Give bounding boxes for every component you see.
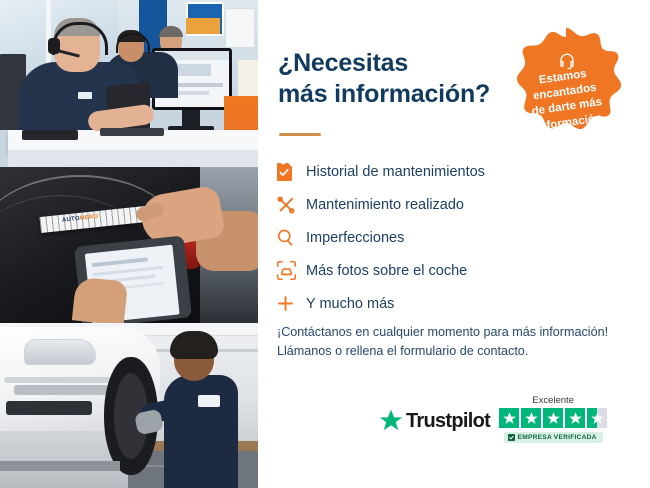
trustpilot-wordmark: Trustpilot — [406, 410, 490, 433]
contact-line-2: Llámanos o rellena el formulario de cont… — [277, 342, 639, 361]
car-grille — [14, 385, 118, 395]
car-bumper — [4, 377, 124, 383]
contact-line-1: ¡Contáctanos en cualquier momento para m… — [277, 323, 639, 342]
keyboard — [22, 130, 78, 140]
promo-badge-text: Estamos encantados de darte más informac… — [510, 63, 621, 138]
trustpilot-rating-label: Excelente — [532, 395, 574, 406]
page-title: ¿Necesitas más información? — [278, 48, 508, 110]
laptop-base — [100, 128, 164, 136]
promo-banner: AUTOHERO — [0, 0, 650, 488]
promo-badge: Estamos encantados de darte más informac… — [498, 22, 634, 158]
agent-two-headset — [116, 33, 150, 53]
whiteboard — [225, 8, 255, 48]
trustpilot-star-filled — [521, 408, 541, 428]
plus-icon — [276, 294, 306, 313]
maintenance-history-icon — [276, 162, 306, 182]
content-panel: ¿Necesitas más información? Est — [258, 0, 650, 488]
feature-label: Imperfecciones — [306, 230, 404, 246]
trustpilot-rating[interactable]: Trustpilot Excelente — [378, 388, 638, 450]
feature-label: Más fotos sobre el coche — [306, 263, 467, 279]
feature-item-imperfections: Imperfecciones — [276, 221, 606, 254]
feature-label: Mantenimiento realizado — [306, 197, 464, 213]
tablet-ui-row — [92, 257, 148, 267]
magnifier-icon — [276, 228, 306, 247]
feature-item-maintenance-history: Historial de mantenimientos — [276, 155, 606, 188]
inspector-hand-holding-tablet — [72, 276, 128, 323]
feature-list: Historial de mantenimientos Mantenimient… — [276, 155, 606, 320]
feature-label: Y mucho más — [306, 296, 394, 312]
title-divider — [279, 133, 321, 136]
promo-badge-content: Estamos encantados de darte más informac… — [498, 22, 634, 158]
headset-icon — [558, 52, 576, 70]
trustpilot-stars — [499, 408, 607, 428]
page-title-line-2: más información? — [278, 79, 508, 110]
trustpilot-verified-badge: EMPRESA VERIFICADA — [504, 432, 603, 443]
feature-label: Historial de mantenimientos — [306, 164, 485, 180]
feature-item-much-more: Y mucho más — [276, 287, 606, 320]
wall-poster-accent — [186, 18, 220, 34]
verified-check-icon — [508, 434, 515, 441]
mechanic-hair — [170, 331, 218, 359]
feature-item-maintenance-done: Mantenimiento realizado — [276, 188, 606, 221]
trustpilot-logo: Trustpilot — [378, 408, 490, 434]
workshop-tire-check-photo — [0, 323, 258, 488]
trustpilot-star-filled — [565, 408, 585, 428]
trustpilot-star-filled — [499, 408, 519, 428]
car-inspection-photo: AUTOHERO — [0, 167, 258, 323]
car-lower-grille — [6, 401, 92, 415]
page-title-line-1: ¿Necesitas — [278, 48, 508, 79]
trustpilot-star-filled — [543, 408, 563, 428]
mechanic-logo-patch — [198, 395, 220, 407]
tools-icon — [276, 195, 306, 215]
car-photo-scan-icon — [276, 260, 306, 281]
call-center-agents-photo — [0, 0, 258, 167]
mechanic-body — [164, 375, 238, 488]
trustpilot-verified-label: EMPRESA VERIFICADA — [518, 434, 597, 441]
contact-copy: ¡Contáctanos en cualquier momento para m… — [277, 323, 639, 361]
car-headlight — [24, 339, 96, 365]
vehicle-lift-ramp — [0, 461, 120, 471]
agent-one-name-badge — [78, 92, 92, 99]
photo-collage: AUTOHERO — [0, 0, 258, 488]
trustpilot-score-block: Excelente — [499, 395, 607, 443]
trustpilot-star-half — [587, 408, 607, 428]
desk-front-panel — [8, 150, 258, 167]
feature-item-more-photos: Más fotos sobre el coche — [276, 254, 606, 287]
trustpilot-star-icon — [378, 408, 404, 434]
